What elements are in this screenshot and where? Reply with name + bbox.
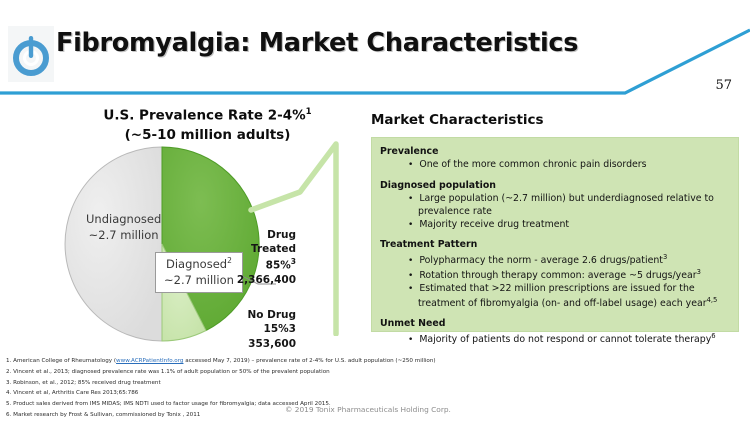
market-bullet-list: Large population (~2.7 million) but unde… (380, 193, 730, 231)
pie-callout-drug-treated: Drug Treated 85%3 2,366,400 (206, 228, 296, 287)
pie-callout-no-drug-line1: No Drug (247, 309, 296, 321)
footnote-3: 3. Robinson, et al., 2012; 85% received … (6, 378, 606, 389)
page-title: Fibromyalgia: Market Characteristics (56, 28, 578, 58)
market-bullet-text: Majority of patients do not respond or c… (419, 334, 711, 345)
market-group-treatment-pattern: Treatment Pattern Polypharmacy the norm … (380, 239, 730, 310)
footnote-1-post: accessed May 7, 2019) – prevalence rate … (183, 358, 435, 364)
chart-title-line2: (~5-10 million adults) (125, 127, 291, 143)
power-button-logo-icon (11, 30, 51, 78)
pie-callout-no-drug: No Drug 15%3 353,600 (206, 308, 296, 351)
footnote-1: 1. American College of Rheumatology (www… (6, 356, 606, 367)
market-group-heading: Diagnosed population (380, 180, 730, 192)
market-group-unmet-need: Unmet Need Majority of patients do not r… (380, 318, 730, 346)
market-bullet-footnote-ref: 3 (663, 253, 667, 261)
market-group-heading: Treatment Pattern (380, 239, 730, 251)
market-bullet-list: One of the more common chronic pain diso… (380, 159, 730, 172)
market-characteristics-panel: Prevalence One of the more common chroni… (371, 137, 739, 332)
market-bullet: Large population (~2.7 million) but unde… (380, 193, 730, 218)
market-group-diagnosed-population: Diagnosed population Large population (~… (380, 180, 730, 232)
market-characteristics-heading: Market Characteristics (371, 112, 544, 128)
market-bullet-text: One of the more common chronic pain diso… (419, 159, 646, 170)
copyright-notice: © 2019 Tonix Pharmaceuticals Holding Cor… (285, 405, 451, 414)
pie-slice-undiagnosed (65, 147, 162, 341)
market-bullet-list: Majority of patients do not respond or c… (380, 332, 730, 347)
acr-patient-info-link[interactable]: www.ACRPatientInfo.org (116, 358, 183, 364)
chart-title-footnote-ref: 1 (306, 107, 312, 117)
market-bullet-text: Estimated that >22 million prescriptions… (418, 283, 707, 309)
pie-callout-drug-treated-line1: Drug (267, 229, 296, 241)
slide-canvas: Fibromyalgia: Market Characteristics 57 … (0, 0, 750, 421)
market-bullet: Estimated that >22 million prescriptions… (380, 283, 730, 310)
pie-callout-no-drug-count: 353,600 (248, 338, 296, 350)
pie-label-undiagnosed-value: ~2.7 million (89, 228, 159, 242)
market-bullet-footnote-ref: 6 (711, 332, 715, 340)
market-bullet: Majority of patients do not respond or c… (380, 332, 730, 347)
market-bullet: Rotation through therapy common: average… (380, 268, 730, 283)
pie-callout-drug-treated-line2: Treated (251, 243, 296, 255)
pie-label-undiagnosed: Undiagnosed ~2.7 million (86, 212, 161, 243)
footnote-1-pre: 1. American College of Rheumatology ( (6, 358, 116, 364)
footnote-4: 4. Vincent et al, Arthritis Care Res 201… (6, 388, 606, 399)
company-logo (8, 26, 54, 82)
market-bullet-text: Large population (~2.7 million) but unde… (418, 193, 714, 217)
chart-title: U.S. Prevalence Rate 2-4%1 (~5-10 millio… (60, 106, 355, 146)
pie-callout-drug-treated-count: 2,366,400 (237, 274, 296, 286)
market-group-prevalence: Prevalence One of the more common chroni… (380, 146, 730, 172)
market-bullet-text: Polypharmacy the norm - average 2.6 drug… (419, 255, 663, 266)
market-bullet: One of the more common chronic pain diso… (380, 159, 730, 172)
market-bullet: Polypharmacy the norm - average 2.6 drug… (380, 253, 730, 268)
market-bullet-text: Rotation through therapy common: average… (419, 270, 696, 281)
market-group-heading: Prevalence (380, 146, 730, 158)
slide-number: 57 (715, 78, 732, 93)
footnote-2: 2. Vincent et al., 2013; diagnosed preva… (6, 367, 606, 378)
market-bullet-footnote-ref: 4,5 (707, 296, 718, 304)
pie-label-undiagnosed-name: Undiagnosed (86, 212, 161, 226)
market-group-heading: Unmet Need (380, 318, 730, 330)
pie-callout-no-drug-pct: 15%3 (264, 323, 296, 335)
pie-callout-drug-treated-footnote-ref: 3 (291, 257, 296, 266)
market-bullet-text: Majority receive drug treatment (419, 219, 569, 230)
market-bullet-footnote-ref: 3 (697, 268, 701, 276)
market-bullet: Majority receive drug treatment (380, 219, 730, 232)
pie-callout-drug-treated-pct: 85% (266, 259, 291, 271)
chart-title-line1: U.S. Prevalence Rate 2-4% (103, 108, 305, 124)
market-bullet-list: Polypharmacy the norm - average 2.6 drug… (380, 253, 730, 311)
